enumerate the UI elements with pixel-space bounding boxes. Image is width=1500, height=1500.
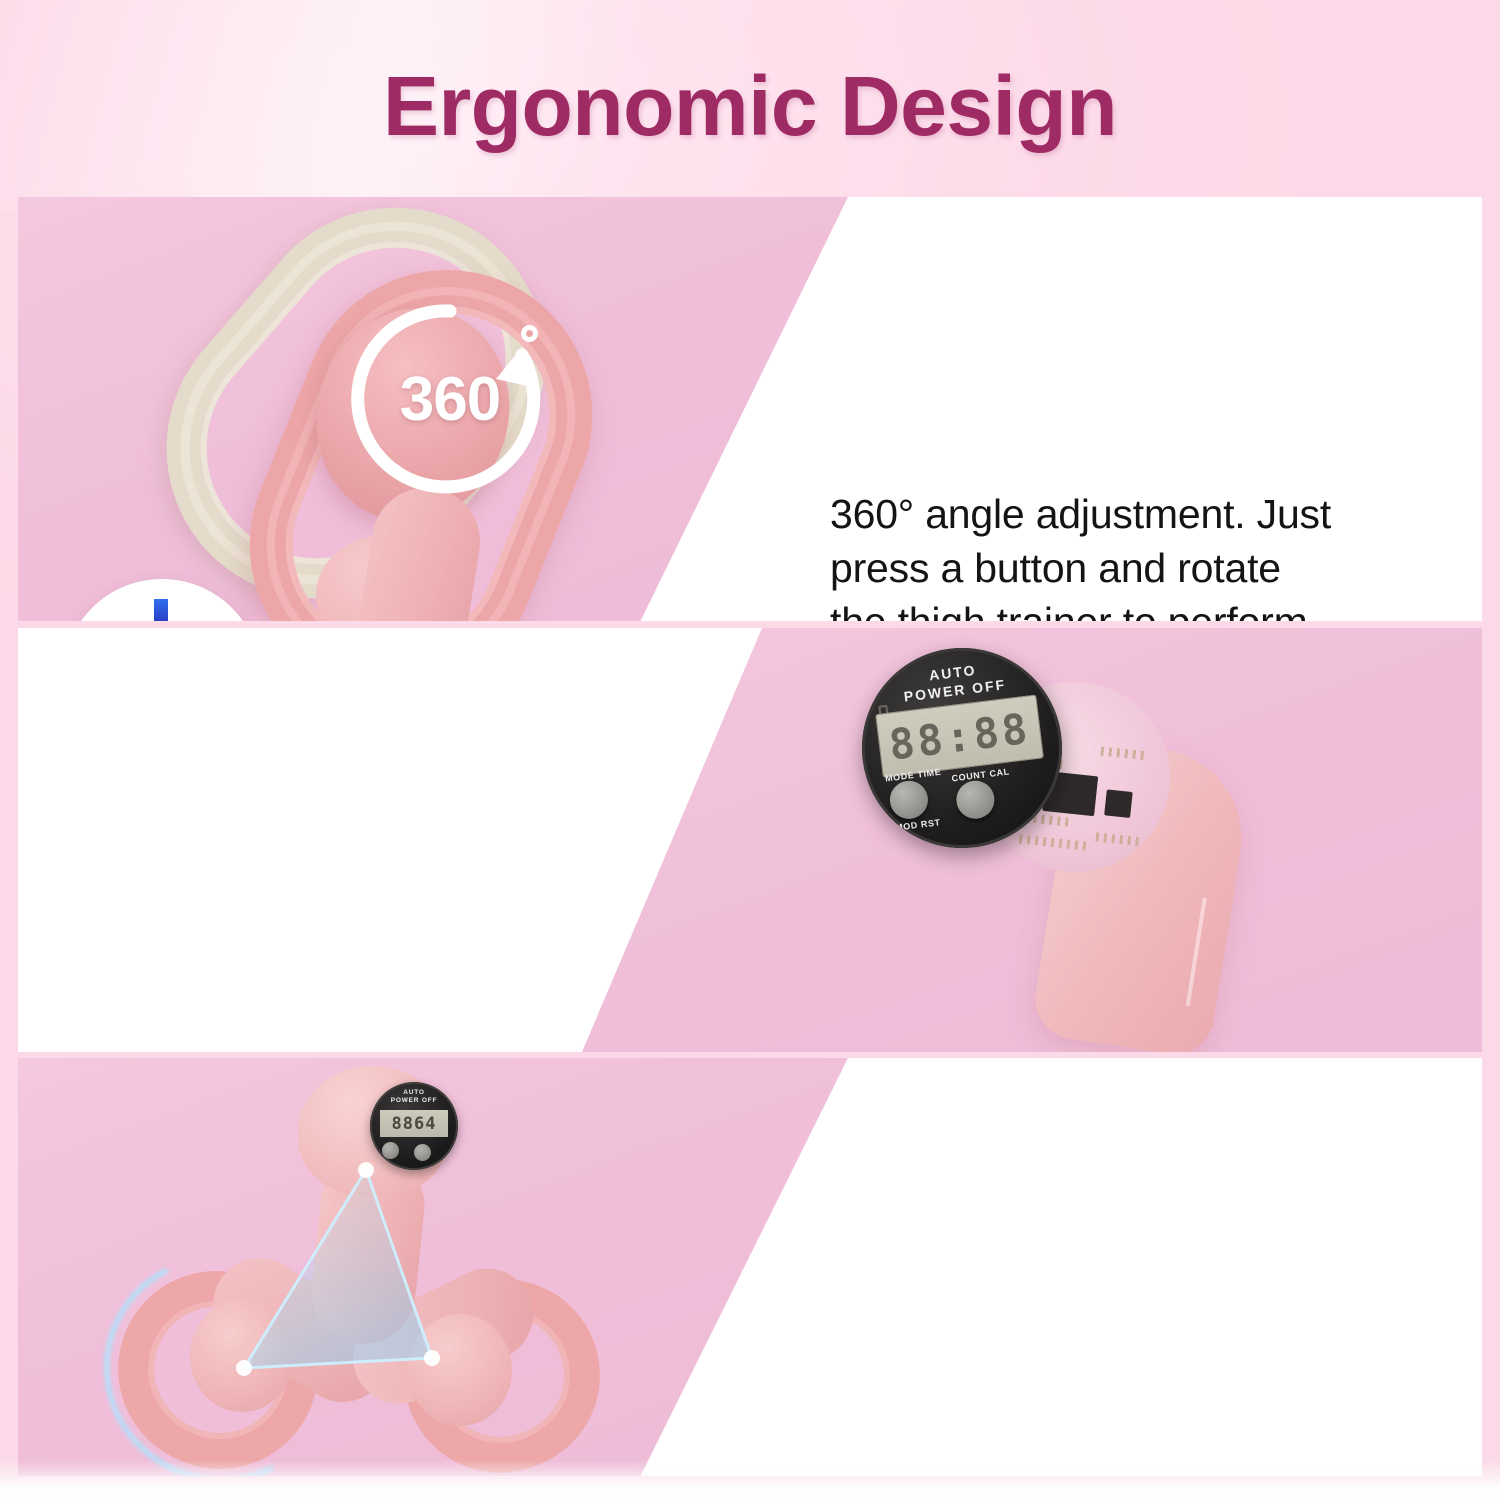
button-label-mod-rst: MOD RST (895, 817, 942, 832)
product-infographic: Ergonomic Design 360 (0, 0, 1500, 1500)
feature-panel-2: AUTO POWER OFF 88:88 MODE TIME COUNT CAL… (18, 628, 1482, 1052)
pcb-chip-small (1104, 789, 1133, 818)
pcb-pads-e (1019, 835, 1090, 851)
degree-symbol-icon (521, 325, 538, 342)
display-button-left[interactable] (888, 779, 930, 821)
display-button-right-small[interactable] (414, 1144, 431, 1161)
panel-3-image: AUTO POWER OFF 8864 (18, 1058, 1482, 1476)
lcd-screen: 88:88 (875, 695, 1044, 778)
page-title: Ergonomic Design (0, 58, 1500, 155)
badge-360-label: 360 (346, 295, 554, 503)
feature-text-1: 360° angle adjustment. Just press a butt… (830, 487, 1480, 621)
led-display-assembly: AUTO POWER OFF 88:88 MODE TIME COUNT CAL… (862, 648, 1332, 1052)
lcd-digits: 88:88 (886, 703, 1032, 769)
auto-power-off-label-small: AUTO POWER OFF (370, 1089, 458, 1106)
pcb-pads-d (1095, 833, 1140, 847)
thigh-trainer-device-3: AUTO POWER OFF 8864 (98, 1058, 638, 1476)
right-pad (408, 1314, 512, 1426)
text-line: 360° angle adjustment. Just (830, 487, 1480, 541)
text-line: the thigh trainer to perform (830, 595, 1480, 621)
lcd-screen-small: 8864 (380, 1110, 448, 1137)
led-display-small: AUTO POWER OFF 8864 (370, 1082, 458, 1170)
power-off-label: POWER OFF (370, 1097, 458, 1105)
feature-panel-3: AUTO POWER OFF 8864 (18, 1058, 1482, 1476)
thigh-trainer-device-1: 360 (168, 197, 688, 621)
rotation-360-badge: 360 (346, 295, 554, 503)
display-button-left-small[interactable] (382, 1142, 399, 1159)
panel-2-image: AUTO POWER OFF 88:88 MODE TIME COUNT CAL… (18, 628, 1482, 1052)
down-arrow-icon (141, 599, 181, 621)
display-button-right[interactable] (954, 779, 996, 821)
auto-label: AUTO (370, 1089, 458, 1097)
text-line: press a button and rotate (830, 541, 1480, 595)
pcb-pads-c (1100, 747, 1149, 761)
feature-panel-1: 360 (18, 197, 1482, 621)
